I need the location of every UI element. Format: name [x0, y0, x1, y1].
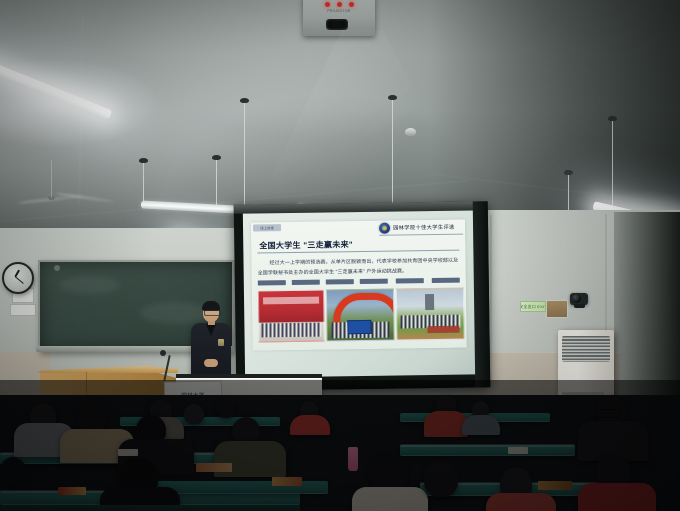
light-ceiling-mount — [388, 95, 397, 100]
projector-brand-label: PROJECTOR — [303, 9, 375, 13]
light-suspension-rod — [392, 98, 393, 208]
wall-clock — [2, 262, 34, 294]
light-ceiling-mount — [564, 170, 573, 175]
desk-booklet — [58, 487, 86, 495]
photo-blue-banner — [347, 320, 371, 334]
desk-side-panel — [0, 505, 300, 511]
slide-photo-red-stage — [258, 290, 325, 343]
slide-photo-campus-field — [396, 288, 465, 341]
light-suspension-rod — [244, 100, 245, 205]
projector-led — [337, 2, 342, 7]
wall-notice-paper — [10, 304, 36, 316]
wall-corner-seam — [490, 215, 492, 385]
water-bottle — [348, 447, 358, 471]
photo-banner — [263, 297, 319, 305]
projector-led — [349, 2, 354, 7]
photo-people-row — [261, 323, 321, 338]
desk-booklet — [538, 481, 572, 490]
ceiling-projector: PROJECTOR — [303, 0, 375, 36]
ac-vent-grille — [562, 336, 610, 362]
clock-minute-hand — [15, 276, 24, 284]
wall-access-plate — [546, 300, 568, 318]
photo-red-track — [427, 326, 459, 333]
screen-right-edge — [473, 201, 491, 387]
slide-photo-red-arch — [326, 289, 395, 342]
desk-paper — [508, 447, 528, 454]
slide-body-line: 全国学联秘书处主办的全国大学生 "三走赢未来" 户外运动挑战赛。 — [258, 267, 408, 276]
photo-tower — [425, 294, 434, 310]
university-logo-inner — [382, 226, 387, 231]
light-ceiling-mount — [608, 116, 617, 121]
university-logo-icon — [379, 223, 390, 234]
slide-chip — [396, 278, 424, 283]
slide-chip — [360, 279, 388, 284]
desk-booklet — [196, 463, 232, 472]
security-camera-icon — [570, 293, 588, 305]
projection-screen: 线上讲堂 园林学院十佳大学生评选 全国大学生 "三走赢未来" 经过大一上学期的预… — [234, 201, 491, 391]
presentation-slide: 线上讲堂 园林学院十佳大学生评选 全国大学生 "三走赢未来" 经过大一上学期的预… — [251, 220, 467, 351]
microphone-icon — [160, 350, 166, 356]
speaker-badge — [218, 339, 224, 346]
audience-head — [424, 461, 458, 497]
screen-surface: 线上讲堂 园林学院十佳大学生评选 全国大学生 "三走赢未来" 经过大一上学期的预… — [243, 210, 475, 377]
audience-glasses-icon — [596, 409, 620, 418]
lecture-hall-photo: PROJECTOR 安全出口 — [0, 0, 680, 511]
chalkboard-magnet — [54, 265, 60, 271]
ceiling-fan-rod — [51, 160, 52, 198]
audience-head — [184, 404, 204, 424]
slide-header-rule — [379, 234, 463, 236]
university-name: 园林学院十佳大学生评选 — [393, 223, 463, 232]
audience-area — [0, 395, 680, 511]
camera-mount — [574, 304, 585, 308]
exit-sign: 安全出口 EXIT — [520, 301, 546, 312]
audience-head — [0, 457, 26, 485]
camera-lens-icon — [572, 294, 581, 303]
audience-shoulders — [462, 415, 500, 435]
slide-chip — [292, 280, 320, 285]
slide-chip — [432, 278, 460, 283]
desk-paper — [118, 449, 138, 456]
audience-shoulders — [578, 483, 656, 511]
slide-section-tab-label: 线上讲堂 — [260, 225, 274, 230]
smoke-detector-icon — [405, 128, 416, 136]
light-ceiling-mount — [240, 98, 249, 103]
slide-accent-chips — [258, 278, 462, 286]
light-ceiling-mount — [212, 155, 221, 160]
projector-lens-icon — [326, 19, 348, 30]
light-suspension-rod — [143, 160, 144, 205]
light-ceiling-mount — [139, 158, 148, 163]
speaker-hands — [204, 359, 218, 367]
audience-head — [216, 397, 236, 418]
audience-shoulders — [486, 493, 556, 511]
projector-led — [325, 2, 330, 7]
slide-chip — [326, 279, 354, 284]
slide-body-line: 经过大一上学期的预选赛，从单片区脱颖而出，代表学校参加共青团中央学校部以及 — [269, 257, 458, 267]
speaker-person — [189, 303, 233, 385]
audience-shoulders — [290, 415, 330, 435]
light-suspension-rod — [216, 158, 217, 208]
exit-sign-label: 安全出口 EXIT — [520, 304, 546, 310]
slide-section-tab: 线上讲堂 — [253, 224, 281, 231]
speaker-glasses-icon — [204, 310, 221, 316]
slide-chip — [258, 280, 286, 285]
desk-booklet — [272, 477, 302, 486]
desk-edge-highlight — [400, 444, 575, 447]
audience-shoulders — [352, 487, 428, 511]
